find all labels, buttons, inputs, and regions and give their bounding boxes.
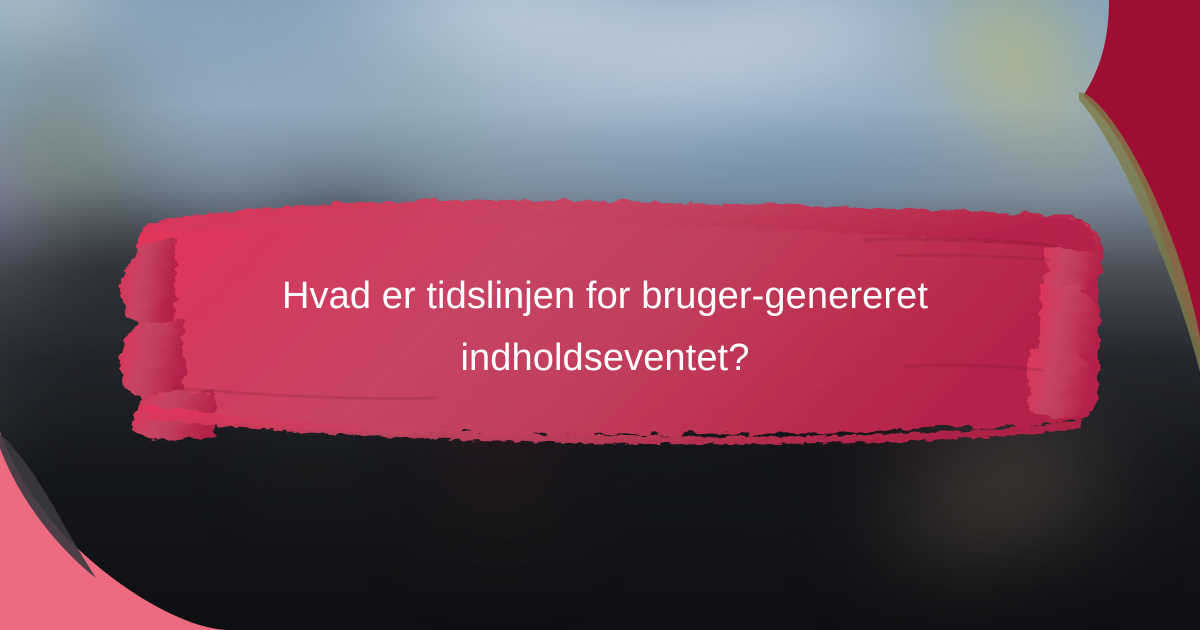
social-share-card: Hvad er tidslinjen for bruger-genereret … [0,0,1200,630]
page-title: Hvad er tidslinjen for bruger-genereret … [150,265,1060,389]
headline-line-1: Hvad er tidslinjen for bruger-genereret [150,265,1060,327]
headline-line-2: indholdseventet? [150,327,1060,389]
